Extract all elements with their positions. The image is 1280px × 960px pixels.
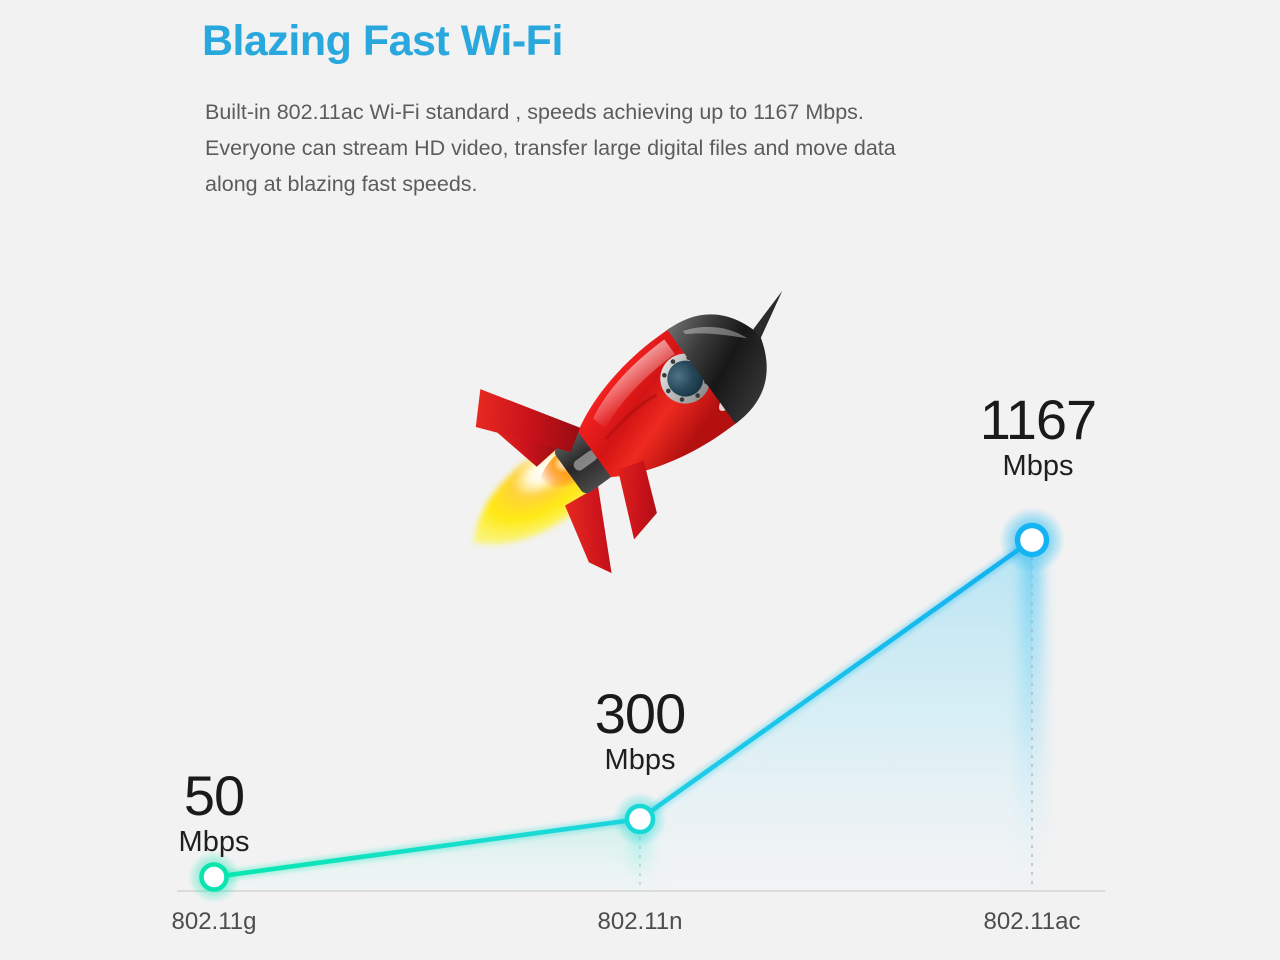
- data-point-802-11ac[interactable]: [1018, 526, 1047, 555]
- infographic-page: Blazing Fast Wi-Fi Built-in 802.11ac Wi-…: [0, 0, 1280, 960]
- data-point-802-11n[interactable]: [627, 806, 653, 832]
- rocket-illustration: [330, 285, 830, 645]
- rocket-group: [403, 285, 830, 628]
- x-axis-label-802-11g: 802.11g: [114, 910, 314, 934]
- x-axis-label-802-11ac: 802.11ac: [932, 910, 1132, 934]
- x-axis-label-802-11n: 802.11n: [540, 910, 740, 934]
- rocket-svg: [330, 285, 830, 645]
- data-point-802-11g[interactable]: [202, 865, 227, 890]
